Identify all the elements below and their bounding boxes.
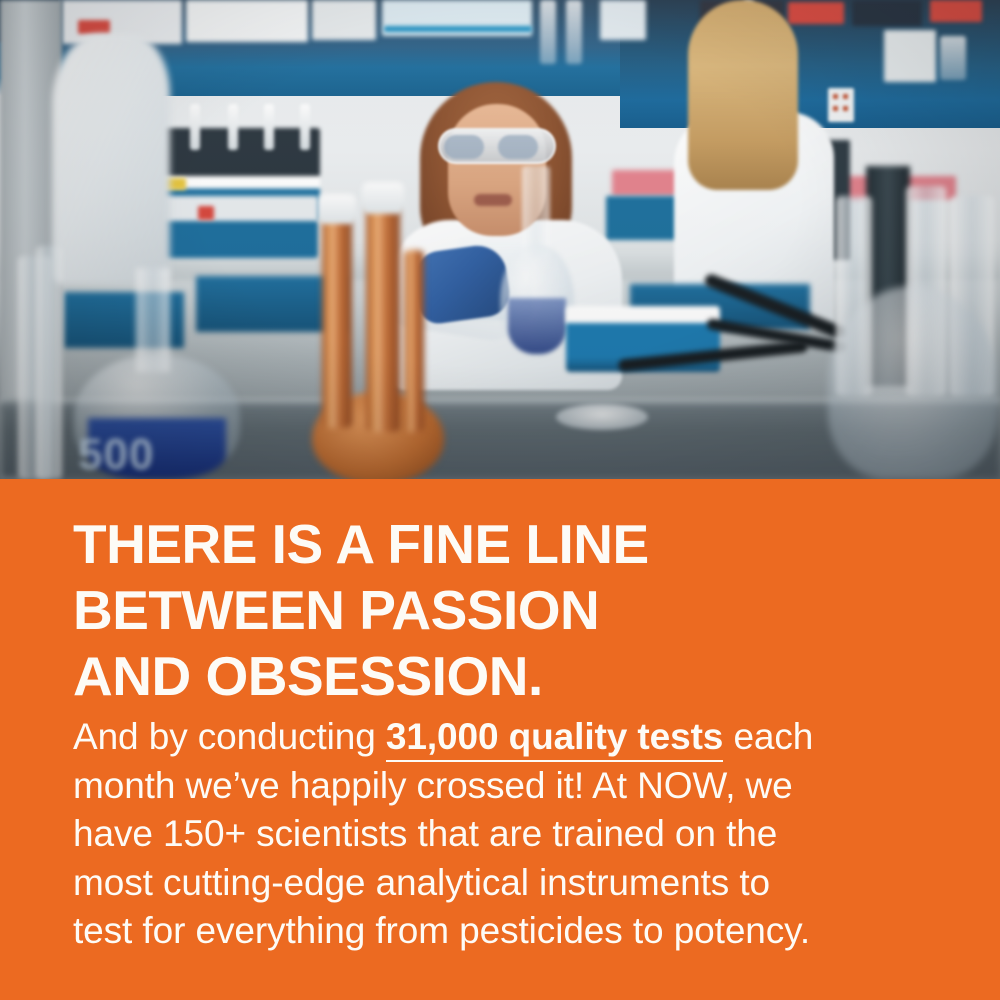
body-line-4: most cutting-edge analytical instruments… — [73, 859, 953, 908]
body-line-1: And by conducting 31,000 quality tests e… — [73, 713, 953, 762]
headline-line-3: AND OBSESSION. — [73, 643, 933, 709]
pipette-tip — [190, 104, 200, 150]
amber-glass-column — [366, 206, 400, 432]
shelf-item-bottle — [566, 0, 582, 64]
shelf-item-red-label — [78, 20, 110, 34]
erlenmeyer-flask-center — [500, 166, 574, 356]
blue-nitrile-glove — [411, 242, 512, 326]
flask-blue-liquid — [508, 298, 566, 354]
headline-block: THERE IS A FINE LINE BETWEEN PASSION AND… — [73, 511, 933, 709]
body-line-5: test for everything from pesticides to p… — [73, 907, 953, 956]
poster-root: 500 THERE IS A FINE LINE BETWEEN PASSION… — [0, 0, 1000, 1000]
shelf-item-bottle — [540, 0, 556, 64]
instrument-red-indicator — [198, 206, 214, 220]
column-stopper — [362, 182, 404, 214]
shelf-item-box — [186, 0, 308, 42]
pipette-tip — [264, 104, 274, 150]
graduated-cylinder — [36, 246, 62, 479]
pipette-tip — [300, 104, 310, 150]
shelf-item-bottle — [940, 36, 966, 80]
shelf-item-box — [884, 30, 936, 82]
orange-message-panel: THERE IS A FINE LINE BETWEEN PASSION AND… — [0, 479, 1000, 1000]
headline-line-2: BETWEEN PASSION — [73, 577, 933, 643]
body-line-3: have 150+ scientists that are trained on… — [73, 810, 953, 859]
body-line-1-suffix: each — [723, 716, 813, 757]
headline-line-1: THERE IS A FINE LINE — [73, 511, 933, 577]
quality-tests-highlight: 31,000 quality tests — [386, 716, 723, 762]
flask-volume-label: 500 — [78, 430, 154, 479]
round-bottom-flask-right — [828, 286, 998, 479]
body-line-2: month we’ve happily crossed it! At NOW, … — [73, 762, 953, 811]
petri-dish — [556, 404, 648, 430]
shelf-item-blue-strip — [384, 26, 532, 32]
shelf-item-red-label — [930, 0, 982, 22]
shelf-item-box — [312, 0, 376, 40]
amber-glass-column — [322, 218, 352, 428]
column-stopper — [318, 194, 356, 224]
body-line-1-prefix: And by conducting — [73, 716, 386, 757]
scientist-left-partial — [52, 34, 170, 284]
shelf-item-box — [600, 0, 646, 40]
scientist-hair-blonde — [688, 0, 798, 190]
body-copy-block: And by conducting 31,000 quality tests e… — [73, 713, 953, 956]
goggle-lens-left — [444, 135, 484, 159]
pipette-tip — [228, 104, 238, 150]
amber-glass-column — [404, 250, 424, 432]
lab-photo: 500 — [0, 0, 1000, 479]
goggle-lens-right — [498, 135, 538, 159]
